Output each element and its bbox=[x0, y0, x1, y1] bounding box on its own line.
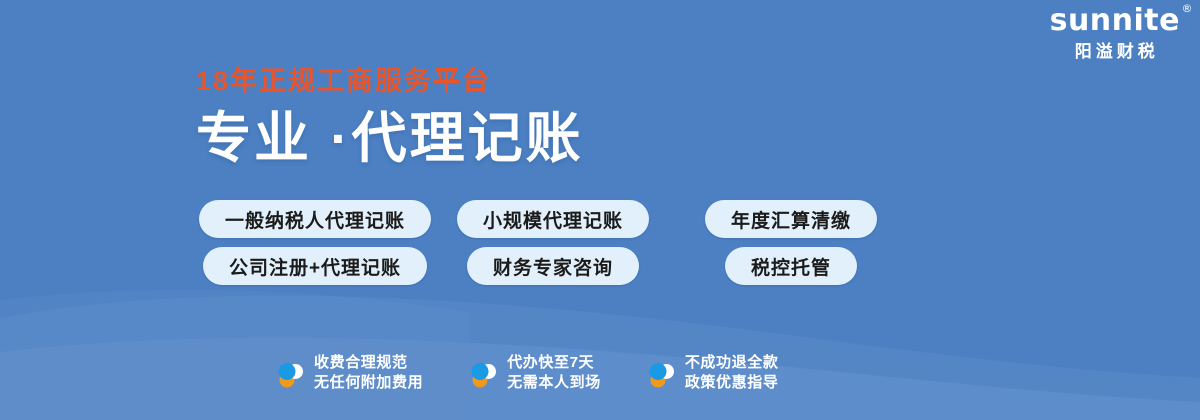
feature-line-1: 收费合理规范 bbox=[314, 354, 408, 371]
page-title: 专业 ·代理记账 bbox=[196, 111, 584, 166]
service-pill-annual-settlement[interactable]: 年度汇算清缴 bbox=[705, 200, 877, 238]
circle-crescent-icon bbox=[469, 359, 498, 388]
feature-line-2: 无任何附加费用 bbox=[314, 374, 423, 391]
service-pill-cell: 税控托管 bbox=[672, 247, 910, 285]
promo-banner: sunnite ® 阳溢财税 18年正规工商服务平台 专业 ·代理记账 一般纳税… bbox=[0, 0, 1200, 420]
hero-copy: 18年正规工商服务平台 专业 ·代理记账 bbox=[196, 68, 584, 166]
logo-subtitle: 阳溢财税 bbox=[1050, 43, 1180, 60]
service-pill-cell: 小规模代理记账 bbox=[434, 200, 672, 238]
circle-crescent-icon bbox=[276, 359, 305, 388]
logo-wordmark: sunnite ® bbox=[1050, 6, 1180, 36]
feature-text: 收费合理规范 无任何附加费用 bbox=[314, 353, 423, 394]
service-pill-cell: 年度汇算清缴 bbox=[672, 200, 910, 238]
circle-crescent-icon bbox=[647, 359, 676, 388]
service-pill-small-scale[interactable]: 小规模代理记账 bbox=[457, 200, 649, 238]
service-pill-cell: 公司注册+代理记账 bbox=[196, 247, 434, 285]
service-pill-finance-consulting[interactable]: 财务专家咨询 bbox=[467, 247, 639, 285]
feature-item-pricing: 收费合理规范 无任何附加费用 bbox=[276, 353, 423, 394]
hero-eyebrow: 18年正规工商服务平台 bbox=[196, 68, 584, 95]
brand-logo[interactable]: sunnite ® 阳溢财税 bbox=[1050, 6, 1180, 60]
service-pill-cell: 财务专家咨询 bbox=[434, 247, 672, 285]
service-pill-tax-control-hosting[interactable]: 税控托管 bbox=[725, 247, 857, 285]
feature-item-speed: 代办快至7天 无需本人到场 bbox=[469, 353, 601, 394]
feature-strip: 收费合理规范 无任何附加费用 代办快至7天 无需本人到场 bbox=[276, 353, 778, 394]
service-pill-general-taxpayer[interactable]: 一般纳税人代理记账 bbox=[199, 200, 431, 238]
logo-wordmark-text: sunnite bbox=[1050, 3, 1180, 38]
registered-trademark-icon: ® bbox=[1182, 3, 1194, 14]
service-pill-company-registration[interactable]: 公司注册+代理记账 bbox=[203, 247, 427, 285]
feature-line-1: 不成功退全款 bbox=[685, 354, 779, 371]
feature-line-2: 无需本人到场 bbox=[507, 374, 601, 391]
service-pill-grid: 一般纳税人代理记账 小规模代理记账 年度汇算清缴 公司注册+代理记账 财务专家咨… bbox=[196, 200, 910, 285]
service-pill-cell: 一般纳税人代理记账 bbox=[196, 200, 434, 238]
feature-text: 代办快至7天 无需本人到场 bbox=[507, 353, 601, 394]
feature-item-refund: 不成功退全款 政策优惠指导 bbox=[647, 353, 779, 394]
feature-text: 不成功退全款 政策优惠指导 bbox=[685, 353, 779, 394]
feature-line-1: 代办快至7天 bbox=[507, 354, 594, 371]
feature-line-2: 政策优惠指导 bbox=[685, 374, 779, 391]
